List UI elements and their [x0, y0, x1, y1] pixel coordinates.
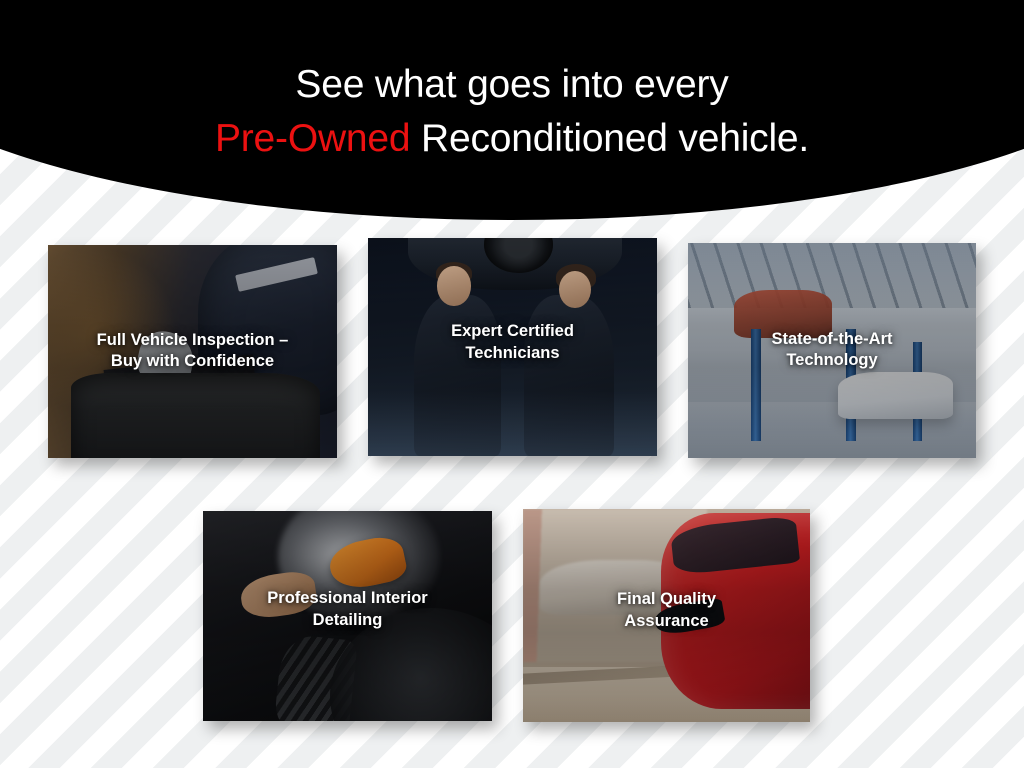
feature-card-caption: State-of-the-Art Technology	[696, 329, 968, 373]
headline-line-1: See what goes into every	[295, 63, 728, 106]
feature-card-full-vehicle-inspection[interactable]: Full Vehicle Inspection – Buy with Confi…	[48, 245, 337, 458]
feature-card-caption: Full Vehicle Inspection – Buy with Confi…	[56, 330, 329, 374]
feature-card-state-of-the-art-technology[interactable]: State-of-the-Art Technology	[688, 243, 976, 458]
presentation-slide: See what goes into everyPre-Owned Recond…	[0, 0, 1024, 768]
feature-card-professional-interior-detailing[interactable]: Professional Interior Detailing	[203, 511, 492, 721]
feature-card-caption: Professional Interior Detailing	[211, 588, 484, 632]
feature-card-final-quality-assurance[interactable]: Final Quality Assurance	[523, 509, 810, 722]
feature-card-caption: Expert Certified Technicians	[376, 321, 649, 365]
feature-card-caption: Final Quality Assurance	[531, 589, 802, 633]
feature-card-expert-certified-technicians[interactable]: Expert Certified Technicians	[368, 238, 657, 456]
headline-accent-pre-owned: Pre-Owned	[215, 117, 410, 160]
headline-line-2-rest: Reconditioned vehicle.	[410, 117, 809, 160]
page-title: See what goes into everyPre-Owned Recond…	[0, 58, 1024, 166]
